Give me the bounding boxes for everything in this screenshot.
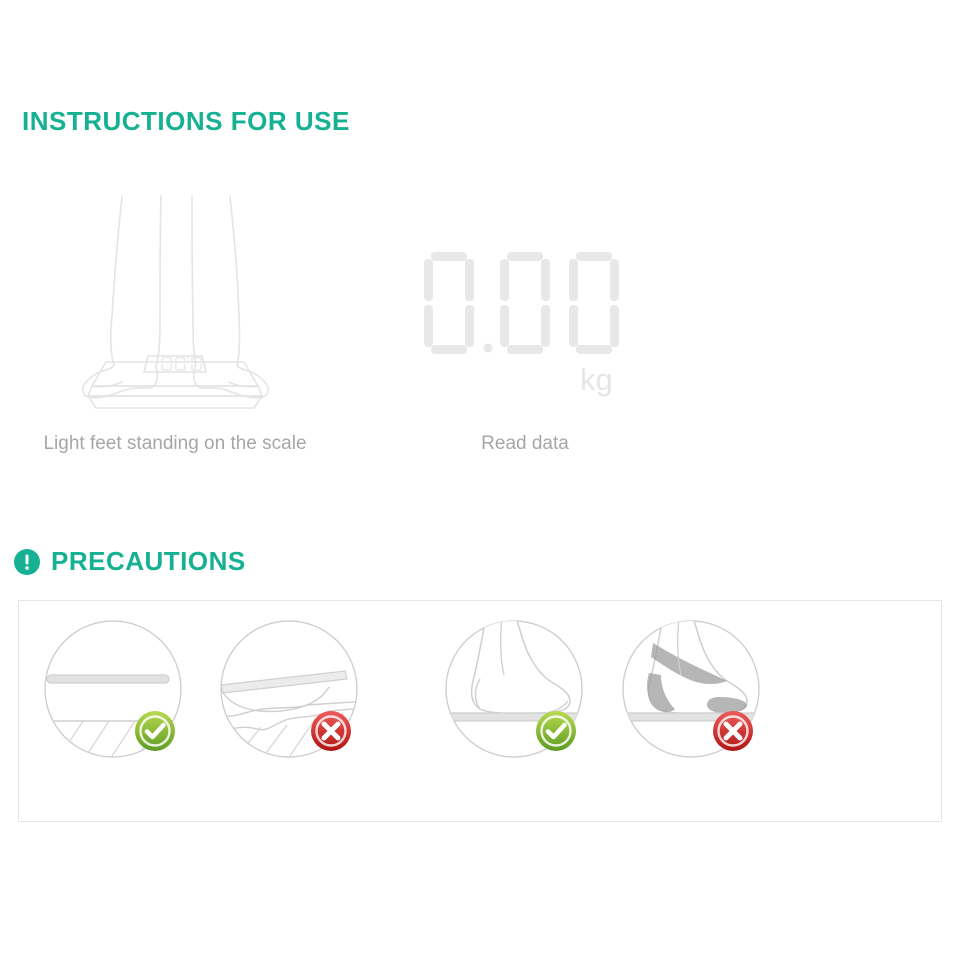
precaution-item: [217, 613, 397, 788]
exclamation-circle-icon: [14, 549, 40, 575]
precautions-heading-row: PRECAUTIONS: [14, 546, 246, 577]
precaution-item: [41, 613, 221, 788]
lcd-display-icon: kg: [360, 190, 690, 425]
precaution-list: [19, 601, 943, 823]
scale-on-carpet-icon: [217, 621, 397, 781]
precautions-panel: [18, 600, 942, 822]
lcd-unit-label: kg: [580, 362, 613, 397]
page-title-instructions: INSTRUCTIONS FOR USE: [22, 106, 350, 137]
cross-circle-icon: [713, 711, 753, 751]
instruction-steps: Light feet standing on the scale: [0, 190, 960, 490]
scale-on-hard-floor-icon: [41, 621, 221, 773]
instruction-step: Light feet standing on the scale: [10, 190, 340, 490]
step-caption: Read data: [360, 433, 690, 455]
precaution-item: [442, 613, 622, 788]
precaution-item: [619, 613, 799, 788]
check-circle-icon: [135, 711, 175, 751]
legs-on-scale-icon: [10, 190, 340, 425]
instruction-step: kg Read data: [360, 190, 690, 490]
step-caption: Light feet standing on the scale: [10, 433, 340, 455]
page-title-precautions: PRECAUTIONS: [51, 546, 246, 577]
cross-circle-icon: [311, 711, 351, 751]
check-circle-icon: [536, 711, 576, 751]
